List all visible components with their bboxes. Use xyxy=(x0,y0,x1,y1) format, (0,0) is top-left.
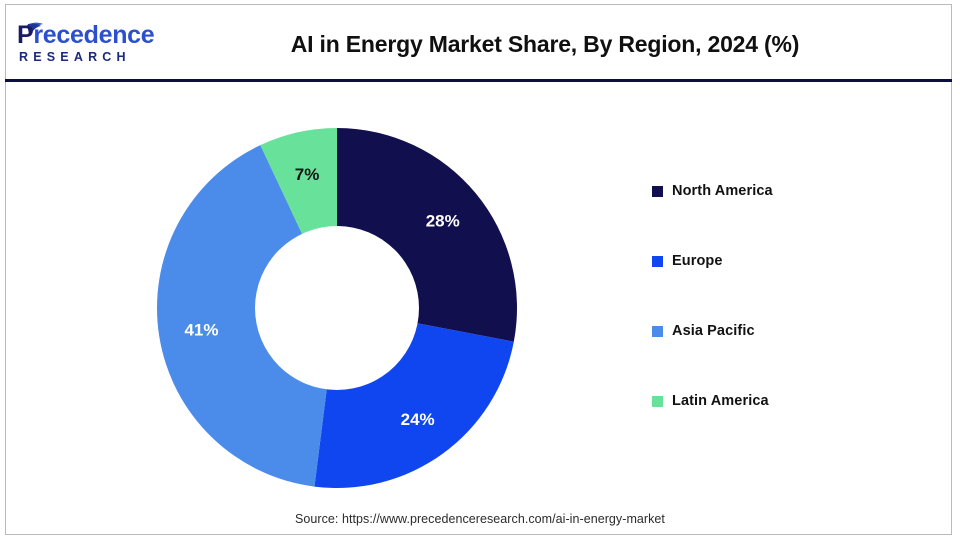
header-divider xyxy=(5,79,952,82)
brand-logo[interactable]: Precedence RESEARCH xyxy=(17,21,177,69)
chart-legend: North America Europe Asia Pacific Latin … xyxy=(652,183,912,409)
slice-value-label: 7% xyxy=(295,165,320,184)
page-title: AI in Energy Market Share, By Region, 20… xyxy=(195,31,895,58)
legend-item-latin-america[interactable]: Latin America xyxy=(652,393,912,409)
legend-item-asia-pacific[interactable]: Asia Pacific xyxy=(652,323,912,339)
slice-value-label: 24% xyxy=(401,410,435,429)
legend-swatch-icon xyxy=(652,256,663,267)
logo-word-p: P xyxy=(17,21,33,49)
logo-wordmark: Precedence xyxy=(17,21,154,49)
slice-value-label: 41% xyxy=(184,320,218,339)
logo-subtitle: RESEARCH xyxy=(19,50,131,64)
legend-swatch-icon xyxy=(652,186,663,197)
legend-label: North America xyxy=(672,183,773,199)
legend-label: Latin America xyxy=(672,393,769,409)
legend-swatch-icon xyxy=(652,396,663,407)
legend-swatch-icon xyxy=(652,326,663,337)
legend-item-europe[interactable]: Europe xyxy=(652,253,912,269)
header: Precedence RESEARCH AI in Energy Market … xyxy=(5,4,952,81)
donut-hole xyxy=(255,226,419,390)
chart-page: Precedence RESEARCH AI in Energy Market … xyxy=(0,0,960,540)
logo-word-rest: recedence xyxy=(33,21,154,49)
legend-item-north-america[interactable]: North America xyxy=(652,183,912,199)
slice-value-label: 28% xyxy=(426,212,460,231)
legend-label: Asia Pacific xyxy=(672,323,755,339)
donut-chart-svg: 28%24%41%7% xyxy=(157,128,517,488)
source-caption: Source: https://www.precedenceresearch.c… xyxy=(0,512,960,526)
donut-chart: 28%24%41%7% xyxy=(157,128,517,488)
legend-label: Europe xyxy=(672,253,723,269)
